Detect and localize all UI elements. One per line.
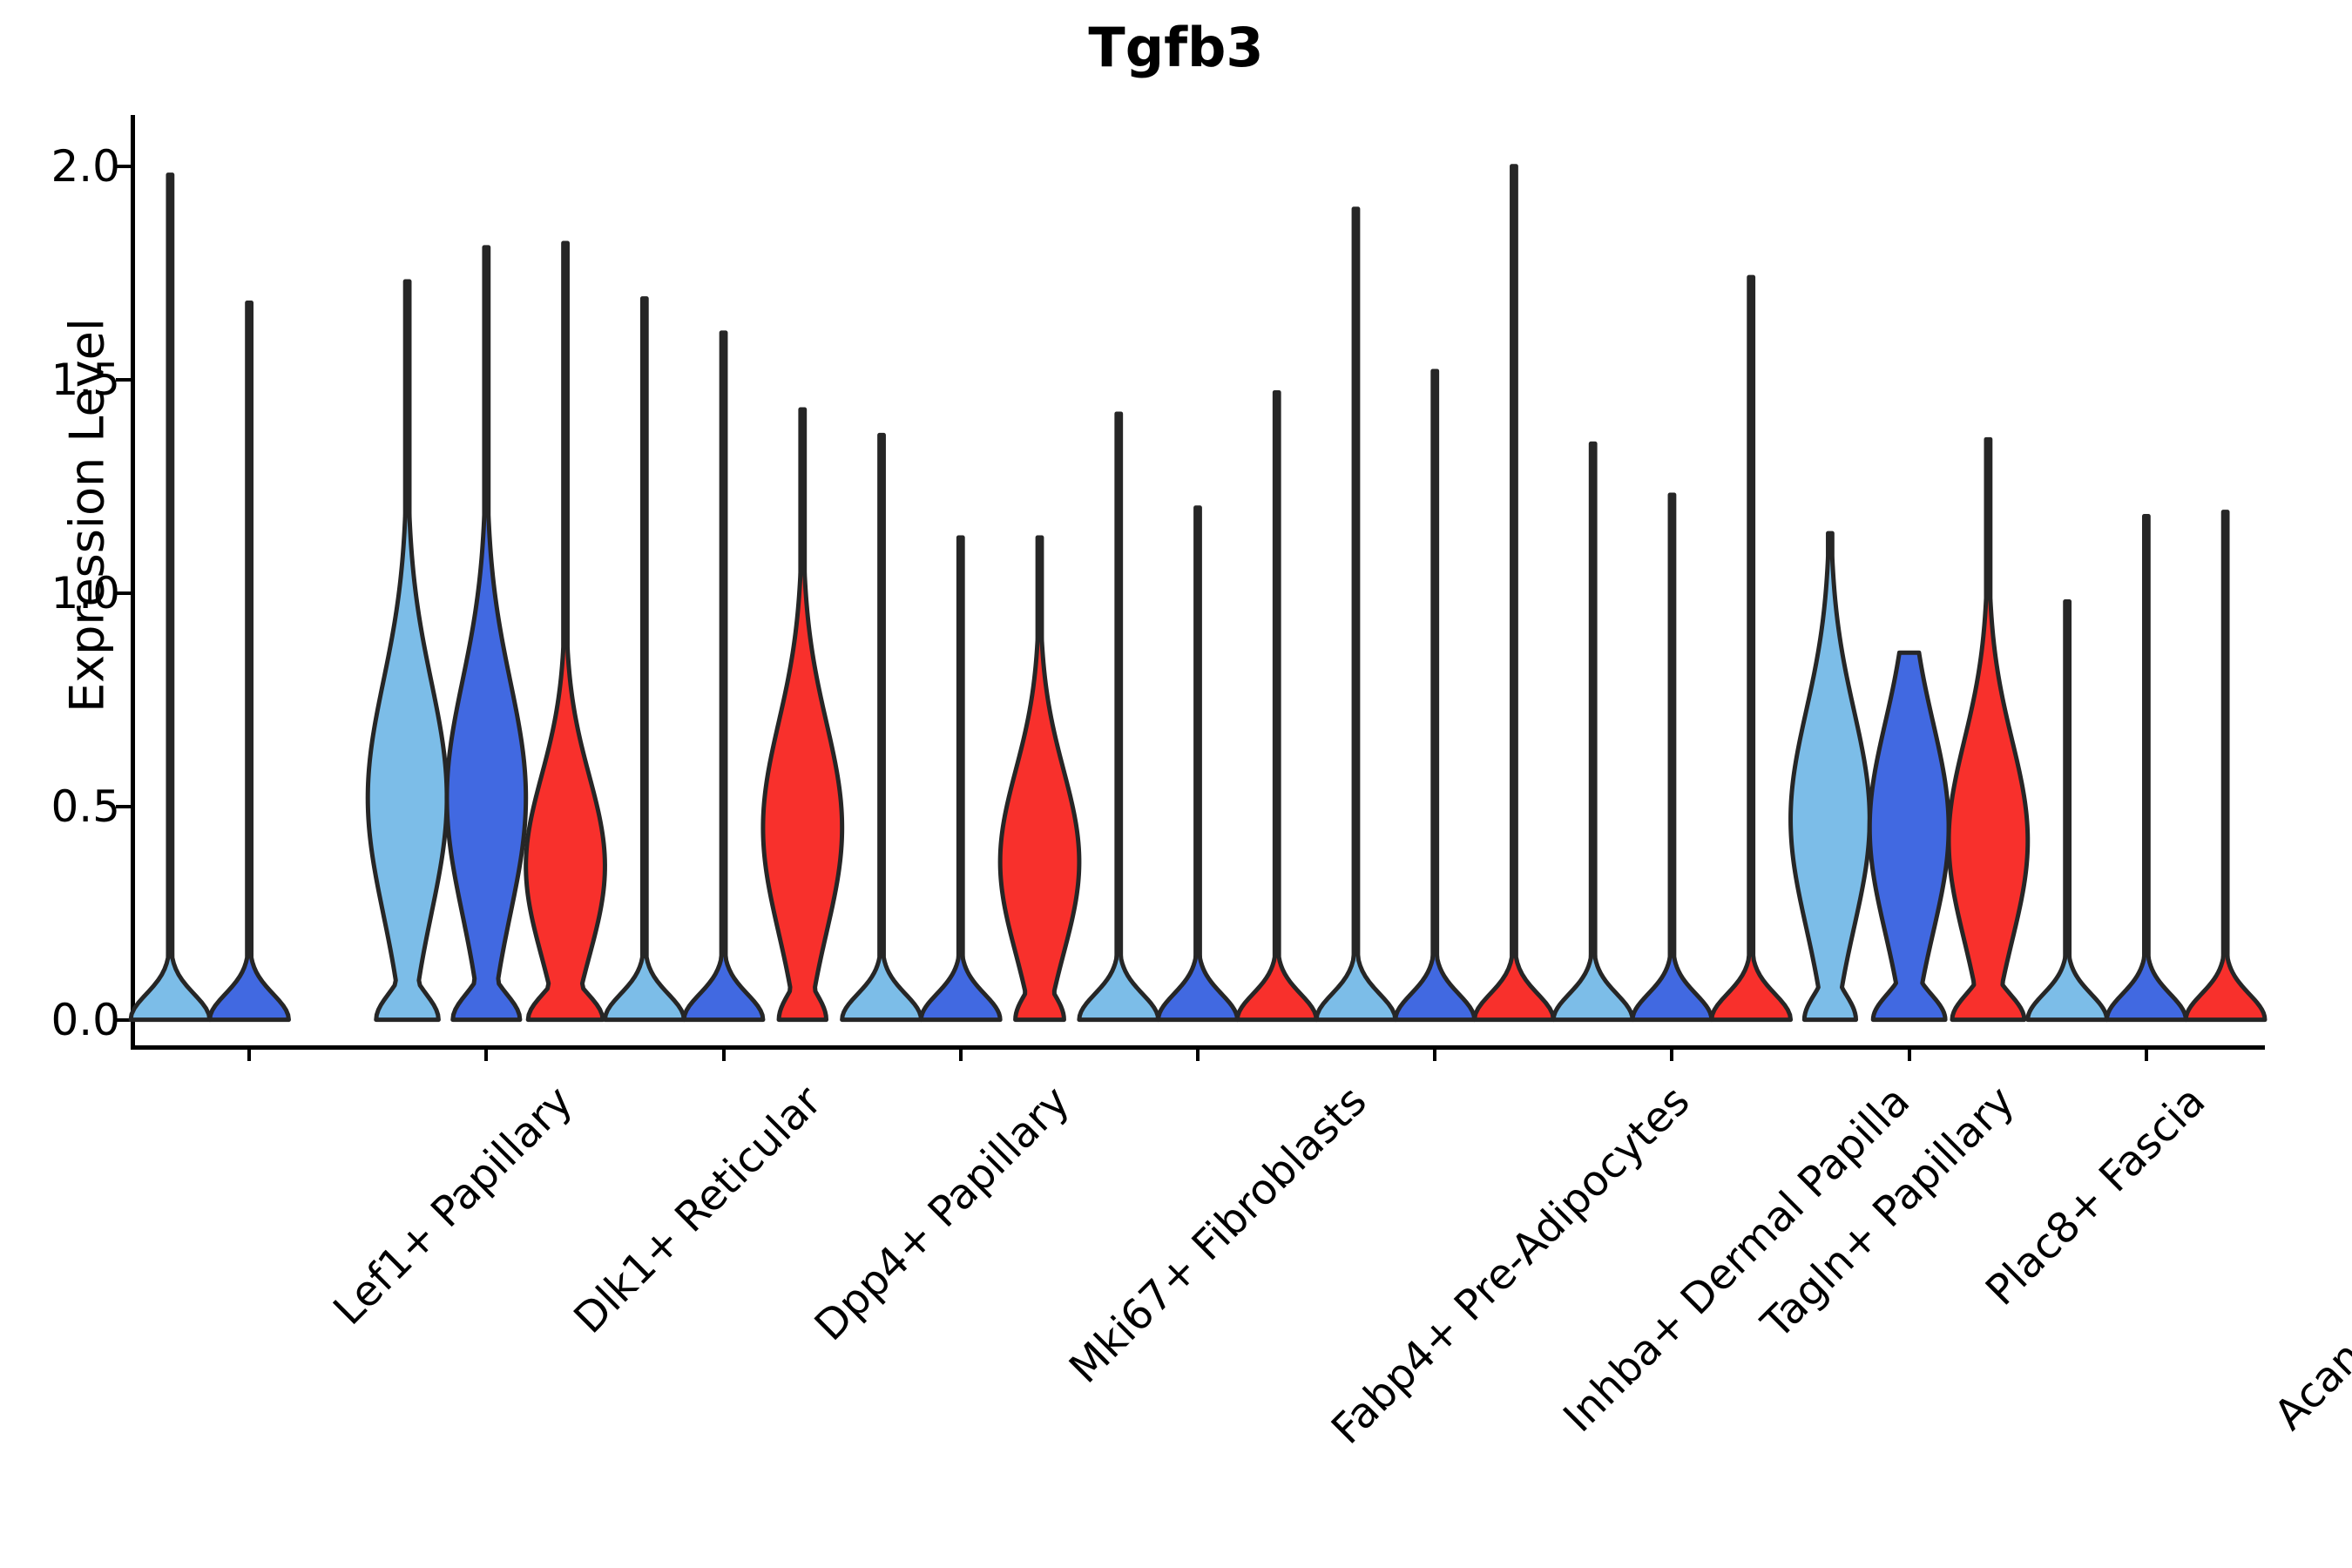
x-tick-mark xyxy=(2145,1045,2148,1061)
violin-shape xyxy=(2028,602,2107,1020)
violin-shape xyxy=(1396,371,1475,1020)
x-tick-label: Fabp4+ Pre-Adipocytes xyxy=(1322,1077,1700,1454)
violin-shape xyxy=(1553,443,1632,1019)
y-tick-label: 1.5 xyxy=(51,355,120,405)
chart-title: Tgfb3 xyxy=(0,16,2352,79)
violin-shape xyxy=(1079,414,1159,1020)
violin-shape xyxy=(368,281,447,1020)
x-tick-label: Acan+ Dermal Sheath xyxy=(2265,1077,2352,1439)
y-tick-label: 2.0 xyxy=(51,141,120,192)
violin-plot-figure: Tgfb3 Expression Level 0.00.51.01.52.0 L… xyxy=(0,0,2352,1568)
violin-shape xyxy=(2107,517,2186,1020)
x-tick-mark xyxy=(247,1045,251,1061)
violin-shape xyxy=(1237,392,1316,1019)
violin-shape xyxy=(921,537,1000,1020)
y-axis-label: Expression Level xyxy=(60,211,115,821)
x-tick-label: Lef1+ Papillary xyxy=(324,1077,582,1335)
x-tick-mark xyxy=(1433,1045,1436,1061)
x-tick-mark xyxy=(959,1045,963,1061)
y-tick-mark xyxy=(116,1018,131,1022)
violin-shape xyxy=(526,243,605,1020)
violin-shape xyxy=(1316,209,1396,1020)
x-tick-mark xyxy=(1908,1045,1911,1061)
violin-shape xyxy=(1712,277,1791,1019)
violin-shape xyxy=(1791,533,1870,1020)
y-tick-label: 1.0 xyxy=(51,568,120,618)
violin-shape xyxy=(605,299,684,1020)
violin-shape xyxy=(684,333,763,1020)
violin-shapes xyxy=(131,115,2265,1045)
y-tick-mark xyxy=(116,378,131,382)
x-tick-mark xyxy=(722,1045,726,1061)
y-tick-mark xyxy=(116,805,131,808)
x-tick-label: Dlk1+ Reticular xyxy=(565,1077,832,1343)
violin-shape xyxy=(1000,537,1079,1020)
x-tick-mark xyxy=(1196,1045,1200,1061)
violin-shape xyxy=(131,175,210,1020)
violin-shape xyxy=(842,435,922,1019)
violin-shape xyxy=(763,409,842,1020)
y-tick-mark xyxy=(116,165,131,168)
y-tick-label: 0.5 xyxy=(51,781,120,832)
violin-shape xyxy=(1632,495,1712,1020)
violin-shape xyxy=(1159,508,1238,1020)
x-tick-label: Dpp4+ Papillary xyxy=(805,1077,1078,1350)
violin-shape xyxy=(2186,512,2265,1020)
y-tick-label: 0.0 xyxy=(51,995,120,1045)
violin-shape xyxy=(1869,652,1949,1019)
violin-shape xyxy=(447,247,526,1020)
violin-shape xyxy=(1949,439,2028,1019)
plot-area: 0.00.51.01.52.0 xyxy=(131,115,2265,1045)
violin-shape xyxy=(1475,166,1554,1020)
y-tick-mark xyxy=(116,591,131,595)
x-tick-label: Mki67+ Fibroblasts xyxy=(1060,1077,1376,1393)
violin-shape xyxy=(210,303,289,1020)
x-tick-mark xyxy=(1670,1045,1673,1061)
x-tick-mark xyxy=(484,1045,488,1061)
